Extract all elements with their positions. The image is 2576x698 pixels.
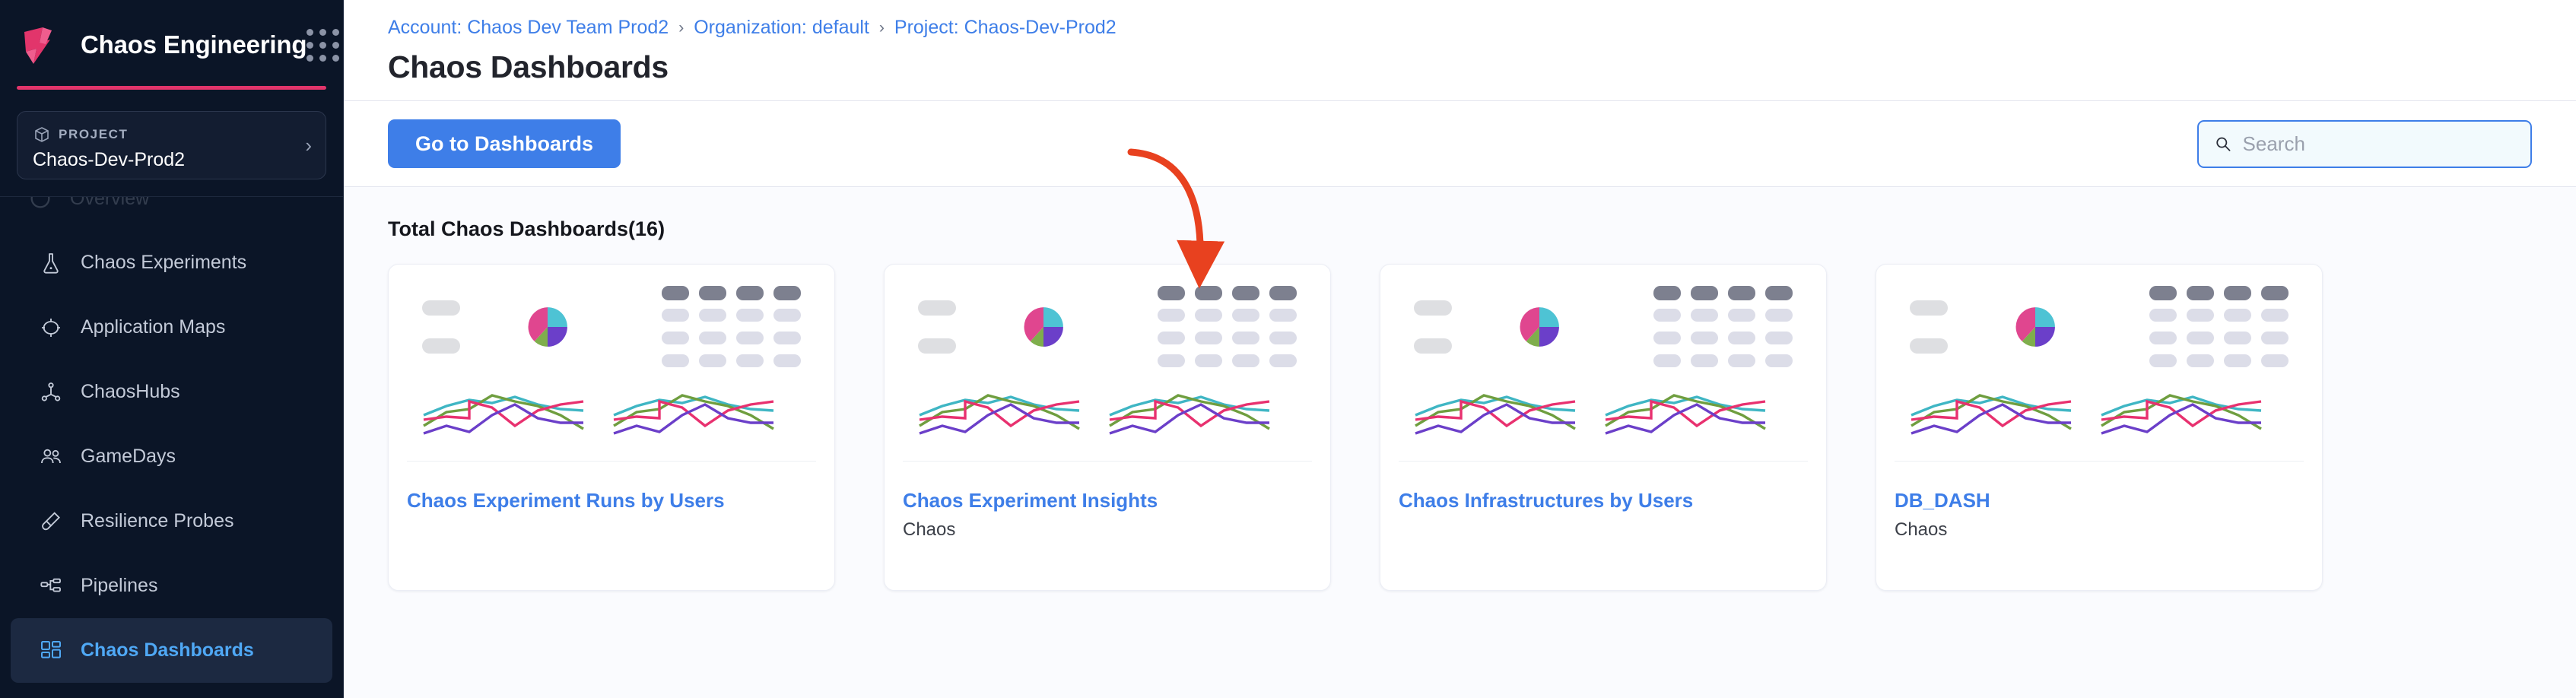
search-box[interactable] — [2197, 120, 2532, 168]
dashboard-thumbnail — [1380, 265, 1826, 461]
brand-underline — [17, 86, 326, 90]
sidebar-item-label: Chaos Dashboards — [81, 639, 254, 662]
dashboards-content: Total Chaos Dashboards(16) — [344, 187, 2576, 698]
thumbnail-top-row — [422, 292, 801, 362]
sidebar-item-application-maps[interactable]: Application Maps — [11, 295, 332, 360]
dashboard-thumbnail — [1876, 265, 2322, 461]
project-value: Chaos-Dev-Prod2 — [33, 149, 310, 171]
thumbnail-line-charts — [422, 379, 801, 438]
breadcrumb-organization[interactable]: Organization: default — [694, 17, 869, 39]
thumbnail-pie-chart — [527, 306, 568, 347]
pipeline-icon — [38, 573, 64, 599]
thumbnail-line-chart-left — [1414, 379, 1586, 438]
thumbnail-pie-chart — [2015, 306, 2056, 347]
project-label: PROJECT — [59, 127, 129, 142]
project-selector[interactable]: PROJECT Chaos-Dev-Prod2 › — [17, 111, 326, 179]
thumbnail-table-grid — [2149, 286, 2289, 369]
harness-logo-icon — [17, 20, 67, 70]
page-title: Chaos Dashboards — [388, 49, 2576, 85]
chevron-right-icon[interactable]: › — [305, 135, 312, 155]
thumbnail-line-chart-left — [1910, 379, 2082, 438]
thumbnail-stat-bars — [1910, 300, 2009, 354]
breadcrumb-project[interactable]: Project: Chaos-Dev-Prod2 — [894, 17, 1116, 39]
sidebar: Chaos Engineering PROJECT Chaos-Dev-Prod… — [0, 0, 344, 698]
thumbnail-line-chart-right — [2100, 379, 2272, 438]
thumbnail-line-chart-right — [1108, 379, 1280, 438]
thumbnail-line-charts — [918, 379, 1297, 438]
toolbar: Go to Dashboards — [344, 101, 2576, 187]
total-dashboards-label: Total Chaos Dashboards(16) — [388, 217, 2532, 241]
card-subtitle: Chaos — [903, 519, 1312, 541]
thumbnail-stat-bars — [1414, 300, 1513, 354]
project-label-row: PROJECT — [33, 125, 310, 144]
page-header: Account: Chaos Dev Team Prod2 › Organiza… — [344, 0, 2576, 101]
card-title[interactable]: Chaos Infrastructures by Users — [1399, 489, 1808, 512]
sidebar-item-label: Application Maps — [81, 316, 225, 338]
card-subtitle: Chaos — [1895, 519, 2304, 541]
sidebar-item-label: GameDays — [81, 446, 176, 468]
card-title[interactable]: Chaos Experiment Runs by Users — [407, 489, 816, 512]
thumbnail-line-chart-right — [612, 379, 784, 438]
thumbnail-top-row — [1414, 292, 1793, 362]
hub-node-icon — [38, 379, 64, 405]
thumbnail-line-chart-left — [918, 379, 1090, 438]
sidebar-item-label: Chaos Experiments — [81, 252, 246, 274]
thumbnail-top-row — [918, 292, 1297, 362]
breadcrumb-separator-icon: › — [678, 19, 684, 37]
thumbnail-stat-bars — [422, 300, 521, 354]
dashboard-card[interactable]: DB_DASH Chaos — [1876, 264, 2323, 591]
dashboard-card[interactable]: Chaos Infrastructures by Users — [1380, 264, 1827, 591]
sidebar-item-pipelines[interactable]: Pipelines — [11, 554, 332, 618]
breadcrumb: Account: Chaos Dev Team Prod2 › Organiza… — [388, 17, 2576, 39]
sidebar-nav-list: Chaos Experiments Application Maps — [0, 197, 343, 683]
sidebar-item-chaoshubs[interactable]: ChaosHubs — [11, 360, 332, 424]
card-footer: Chaos Infrastructures by Users — [1399, 461, 1808, 590]
card-title[interactable]: Chaos Experiment Insights — [903, 489, 1312, 512]
thumbnail-top-row — [1910, 292, 2289, 362]
app-root: Chaos Engineering PROJECT Chaos-Dev-Prod… — [0, 0, 2576, 698]
card-footer: Chaos Experiment Runs by Users — [407, 461, 816, 590]
thumbnail-pie-chart — [1519, 306, 1560, 347]
flask-icon — [38, 250, 64, 276]
search-icon — [2214, 134, 2232, 154]
main-content: Account: Chaos Dev Team Prod2 › Organiza… — [344, 0, 2576, 698]
dashboard-card-grid: Chaos Experiment Runs by Users — [388, 264, 2532, 591]
sidebar-item-label: Resilience Probes — [81, 510, 234, 532]
sidebar-item-gamedays[interactable]: GameDays — [11, 424, 332, 489]
target-icon — [38, 315, 64, 341]
dashboard-card[interactable]: Chaos Experiment Insights Chaos — [884, 264, 1331, 591]
thumbnail-line-chart-right — [1604, 379, 1776, 438]
dashboard-card[interactable]: Chaos Experiment Runs by Users — [388, 264, 835, 591]
thumbnail-line-charts — [1910, 379, 2289, 438]
breadcrumb-account[interactable]: Account: Chaos Dev Team Prod2 — [388, 17, 669, 39]
card-title[interactable]: DB_DASH — [1895, 489, 2304, 512]
brand-row: Chaos Engineering — [0, 0, 343, 90]
test-tube-icon — [38, 509, 64, 535]
users-icon — [38, 444, 64, 470]
sidebar-item-resilience-probes[interactable]: Resilience Probes — [11, 489, 332, 554]
thumbnail-table-grid — [662, 286, 801, 369]
sidebar-item-chaos-experiments[interactable]: Chaos Experiments — [11, 230, 332, 295]
card-footer: DB_DASH Chaos — [1895, 461, 2304, 590]
breadcrumb-separator-icon: › — [879, 19, 885, 37]
search-input[interactable] — [2243, 132, 2515, 156]
sidebar-item-chaos-dashboards[interactable]: Chaos Dashboards — [11, 618, 332, 683]
dashboard-grid-icon — [38, 638, 64, 664]
thumbnail-pie-chart — [1023, 306, 1064, 347]
sidebar-nav: Overview Chaos Experiments — [0, 196, 343, 698]
thumbnail-line-chart-left — [422, 379, 594, 438]
grid-apps-icon[interactable] — [307, 29, 339, 62]
thumbnail-line-charts — [1414, 379, 1793, 438]
dashboard-thumbnail — [389, 265, 834, 461]
card-footer: Chaos Experiment Insights Chaos — [903, 461, 1312, 590]
dashboard-thumbnail — [885, 265, 1330, 461]
cube-icon — [33, 125, 51, 144]
go-to-dashboards-button[interactable]: Go to Dashboards — [388, 119, 621, 168]
brand-title: Chaos Engineering — [81, 30, 307, 59]
sidebar-item-label: ChaosHubs — [81, 381, 180, 403]
thumbnail-table-grid — [1158, 286, 1297, 369]
sidebar-item-label: Pipelines — [81, 575, 157, 597]
thumbnail-table-grid — [1653, 286, 1793, 369]
thumbnail-stat-bars — [918, 300, 1017, 354]
